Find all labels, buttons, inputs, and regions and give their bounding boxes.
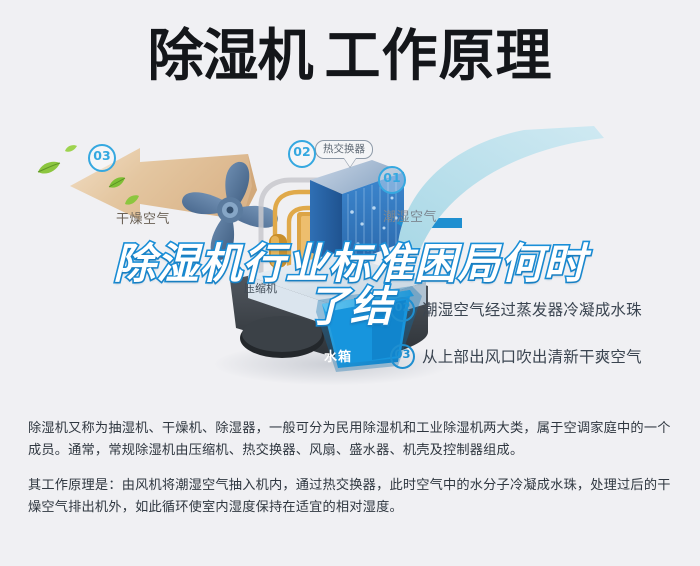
label-compressor: 压缩机 — [244, 280, 277, 296]
leaf-icon — [124, 194, 140, 206]
badge-02: 02 — [288, 140, 316, 168]
page-title-part2: 工作原理 — [325, 24, 553, 89]
page-title-part1: 除湿机 — [148, 24, 313, 89]
list-item: 02 潮湿空气经过蒸发器冷凝成水珠 — [390, 292, 690, 326]
body-paragraph-2: 其工作原理是：由风机将潮湿空气抽入机内，通过热交换器，此时空气中的水分子冷凝成水… — [28, 475, 676, 519]
humid-air-swoosh-icon — [398, 126, 613, 252]
heat-exchanger-callout: 热交换器 — [315, 140, 373, 159]
label-dry-air: 干燥空气 — [116, 208, 170, 227]
leaf-icon — [108, 176, 126, 189]
infographic-page: 除湿机工作原理 — [0, 0, 700, 566]
legend-badge-03: 03 — [390, 344, 415, 369]
badge-03: 03 — [88, 144, 116, 172]
body-paragraph-1: 除湿机又称为抽湿机、干燥机、除湿器，一般可分为民用除湿机和工业除湿机两大类，属于… — [28, 418, 676, 462]
label-humid-air: 潮湿空气 — [383, 206, 437, 225]
legend-text-03: 从上部出风口吹出清新干爽空气 — [422, 345, 642, 367]
legend-badge-02: 02 — [390, 297, 415, 322]
leaf-icon — [36, 160, 62, 176]
leaf-icon — [64, 144, 78, 153]
article-body: 除湿机又称为抽湿机、干燥机、除湿器，一般可分为民用除湿机和工业除湿机两大类，属于… — [28, 418, 676, 519]
list-item: 03 从上部出风口吹出清新干爽空气 — [390, 339, 690, 373]
label-water-tank: 水箱 — [324, 346, 352, 365]
badge-01: 01 — [378, 166, 406, 194]
page-title: 除湿机工作原理 — [0, 18, 700, 96]
legend-list: 02 潮湿空气经过蒸发器冷凝成水珠 03 从上部出风口吹出清新干爽空气 — [390, 292, 690, 373]
legend-text-02: 潮湿空气经过蒸发器冷凝成水珠 — [422, 298, 642, 320]
